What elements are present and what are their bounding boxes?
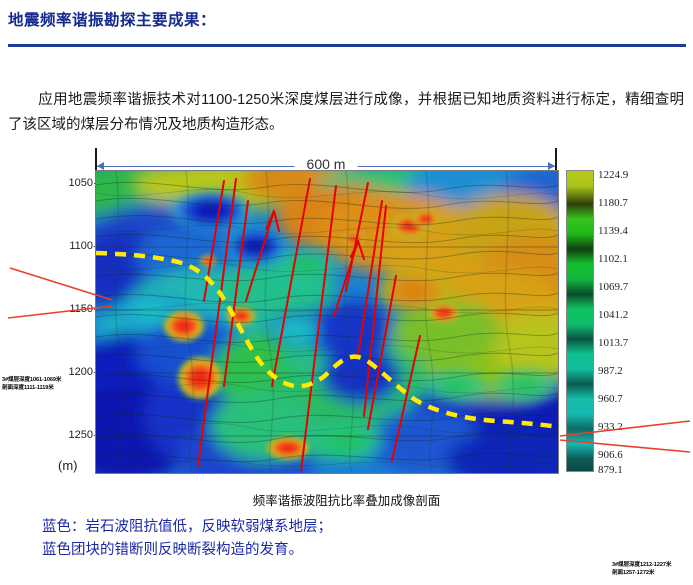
annotation-line-1: 3#煤层深度1212-1227米 [612,561,671,569]
right-seam-annotation: 3#煤层深度1212-1227米 剖面1257-1272米 [612,561,671,577]
page-title: 地震频率谐振勘探主要成果： [8,8,216,30]
figure-caption: 频率谐振波阻抗比率叠加成像剖面 [0,490,693,509]
y-tick-label: 1150 [69,303,93,315]
left-seam-annotation: 3#煤层深度1061-1069米 剖面深度1111-1119米 [2,376,61,392]
depth-axis-unit: (m) [58,458,78,473]
legend-note-line: 蓝色：岩石波阻抗值低，反映软弱煤系地层； [42,516,682,539]
colorbar-tick: 906.6 [598,449,623,461]
annotation-line-1: 3#煤层深度1061-1069米 [2,376,61,384]
intro-paragraph: 应用地震频率谐振技术对1100-1250米深度煤层进行成像，并根据已知地质资料进… [8,88,684,138]
colorbar [566,170,594,472]
colorbar-tick: 1041.2 [598,309,628,321]
y-tick-label: 1200 [69,366,93,378]
colorbar-tick: 960.7 [598,393,623,405]
colorbar-tick: 1180.7 [598,197,628,209]
slide-page: 地震频率谐振勘探主要成果： 应用地震频率谐振技术对1100-1250米深度煤层进… [0,0,693,585]
arrow-left-icon [97,162,104,170]
legend-note-line: 蓝色团块的错断则反映断裂构造的发育。 [42,539,682,562]
colorbar-tick: 933.2 [598,421,623,433]
arrow-right-icon [548,162,555,170]
colorbar-tick: 1013.7 [598,337,628,349]
annotation-line-2: 剖面深度1111-1119米 [2,384,61,392]
annotation-line-2: 剖面1257-1272米 [612,569,671,577]
colorbar-tick: 987.2 [598,365,623,377]
contour-texture [96,171,558,473]
colorbar-tick: 1102.1 [598,253,628,265]
colorbar-tick: 1139.4 [598,225,628,237]
paragraph-text: 应用地震频率谐振技术对1100-1250米深度煤层进行成像，并根据已知地质资料进… [8,92,684,133]
legend-notes: 蓝色：岩石波阻抗值低，反映软弱煤系地层； 蓝色团块的错断则反映断裂构造的发育。 [42,516,682,562]
colorbar-labels: 1224.9 1180.7 1139.4 1102.1 1069.7 1041.… [598,170,678,470]
y-tick-label: 1100 [69,240,93,252]
seismic-section-image [95,170,559,474]
y-tick-label: 1050 [69,177,93,189]
y-tick-label: 1250 [69,429,93,441]
seismic-figure: 600 m 1050 1100 1150 1200 1250 [0,140,693,485]
colorbar-tick: 879.1 [598,464,623,476]
seismic-heatmap-svg [96,171,558,473]
colorbar-tick: 1224.9 [598,169,628,181]
title-divider [8,44,686,47]
colorbar-tick: 1069.7 [598,281,628,293]
depth-axis: 1050 1100 1150 1200 1250 [55,170,95,472]
